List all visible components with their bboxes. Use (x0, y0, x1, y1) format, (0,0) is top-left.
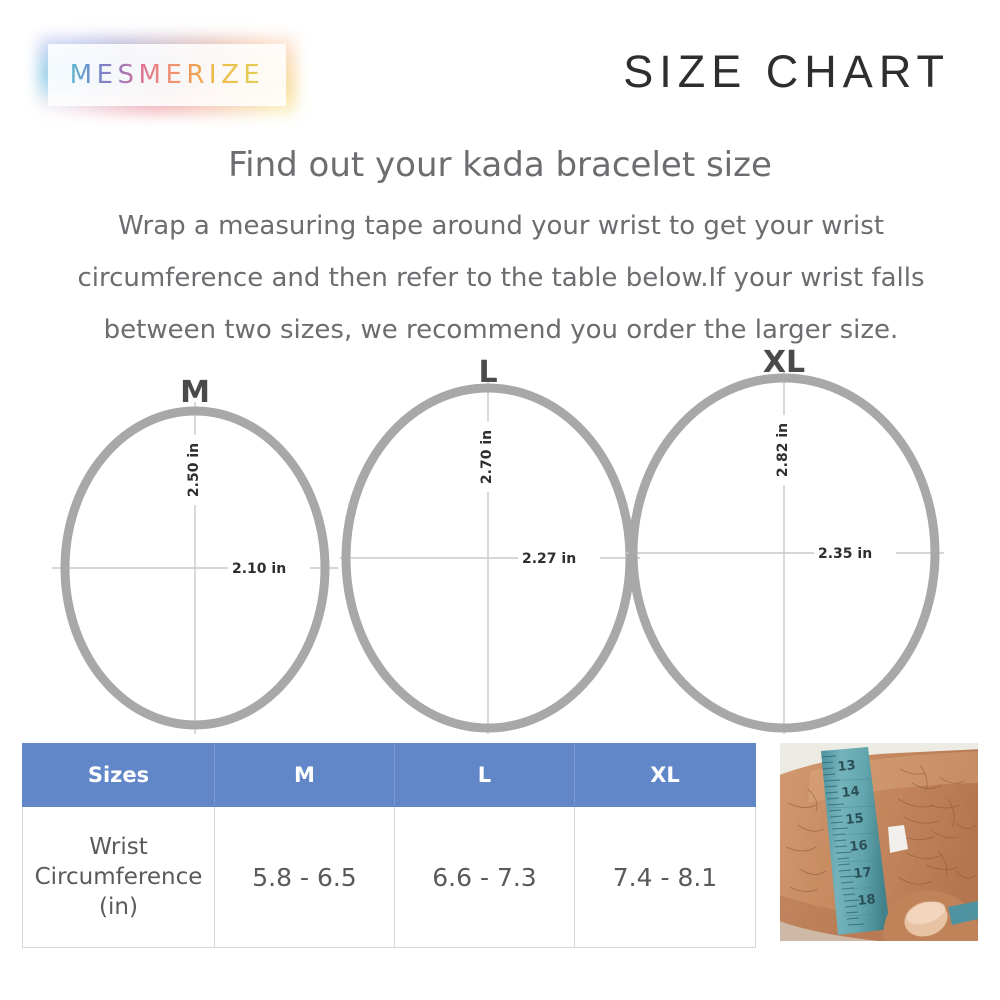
oval-width-label-xl: 2.35 in (818, 546, 872, 562)
subtitle: Find out your kada bracelet size (0, 145, 1000, 185)
oval-diagram-m: M 2.50 in 2.10 in (52, 375, 338, 734)
oval-size-label-m: M (180, 375, 210, 410)
oval-diagram-l: L 2.70 in 2.27 in (340, 355, 640, 734)
brand-logo: MESMERIZE (48, 44, 286, 106)
tape-number-17: 17 (853, 865, 873, 882)
table-header-row: Sizes M L XL (23, 744, 756, 807)
oval-size-label-xl: XL (763, 345, 805, 380)
oval-diagram-group: M 2.50 in 2.10 in L 2.70 in 2.27 in XL 2… (0, 340, 1000, 740)
page-title: SIZE CHART (623, 46, 950, 98)
table-header-l: L (395, 744, 575, 807)
table-row: Wrist Circumference (in) 5.8 - 6.5 6.6 -… (23, 807, 756, 948)
tape-number-14: 14 (841, 784, 861, 801)
oval-height-label-m: 2.50 in (186, 443, 202, 497)
oval-size-label-l: L (478, 355, 497, 390)
cell-wrist-l: 6.6 - 7.3 (395, 807, 575, 948)
row-label-line-3: (in) (24, 892, 213, 922)
table-header-m: M (215, 744, 395, 807)
intro-paragraph: Wrap a measuring tape around your wrist … (50, 200, 952, 356)
tape-number-13: 13 (837, 758, 857, 775)
size-table: Sizes M L XL Wrist Circumference (in) 5.… (22, 743, 756, 948)
cell-wrist-m: 5.8 - 6.5 (215, 807, 395, 948)
cell-wrist-xl: 7.4 - 8.1 (575, 807, 756, 948)
oval-height-label-xl: 2.82 in (775, 423, 791, 477)
photo-content: 13 14 15 16 17 18 (780, 743, 978, 941)
table-header-sizes: Sizes (23, 744, 215, 807)
tape-number-16: 16 (849, 838, 869, 855)
oval-height-label-l: 2.70 in (479, 430, 495, 484)
row-label-line-1: Wrist (24, 832, 213, 862)
oval-diagram-xl: XL 2.82 in 2.35 in (626, 345, 944, 734)
row-label-line-2: Circumference (24, 862, 213, 892)
tape-number-15: 15 (845, 811, 865, 828)
row-label-wrist-circumference: Wrist Circumference (in) (23, 807, 215, 948)
oval-width-label-l: 2.27 in (522, 551, 576, 567)
table-header-xl: XL (575, 744, 756, 807)
brand-wordmark: MESMERIZE (70, 60, 265, 90)
logo-plate: MESMERIZE (48, 44, 286, 106)
oval-width-label-m: 2.10 in (232, 561, 286, 577)
wrist-measurement-photo: 13 14 15 16 17 18 (780, 743, 978, 941)
tape-number-18: 18 (857, 892, 877, 909)
